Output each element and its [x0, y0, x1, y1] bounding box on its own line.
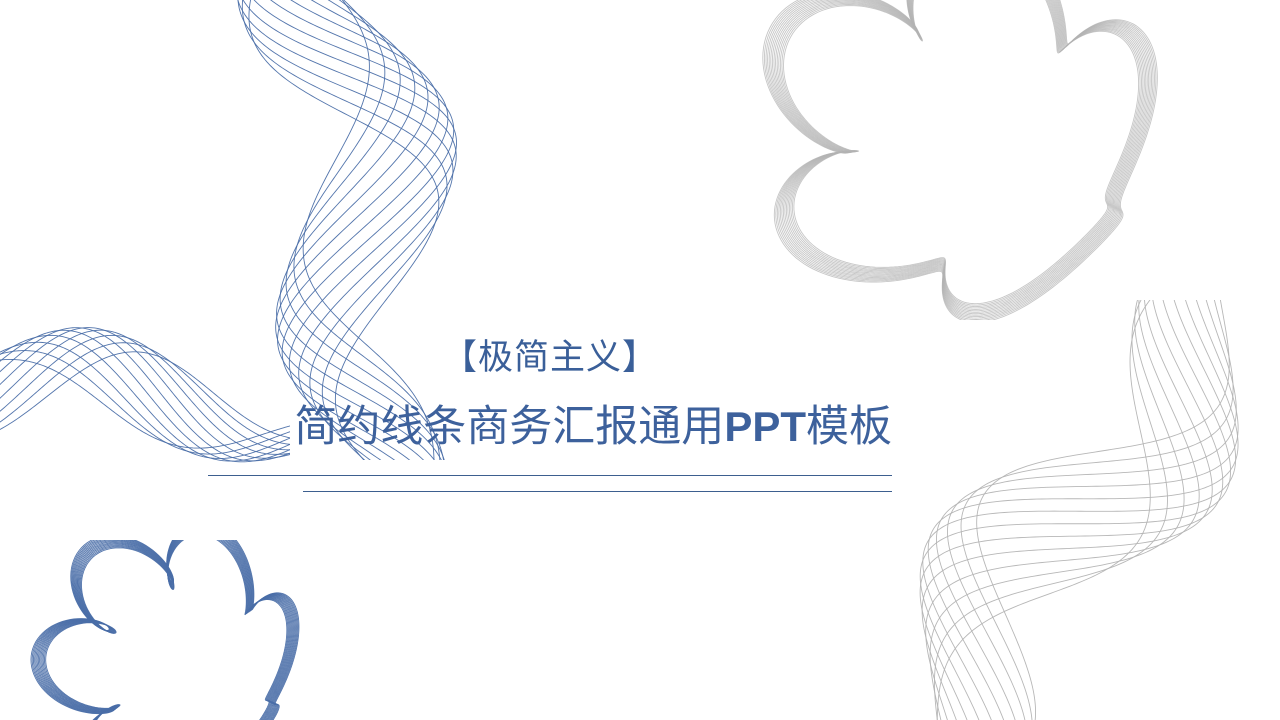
decoration-svg [830, 300, 1280, 720]
decoration-stroke [936, 300, 1238, 720]
decoration-stroke [780, 0, 1141, 307]
title-cjk-part-b: 模 [806, 404, 849, 451]
decoration-stroke [36, 540, 295, 720]
decoration-svg [755, 0, 1175, 320]
decoration-stroke [779, 0, 1143, 308]
decoration-stroke [931, 300, 1218, 720]
slide-canvas: 【极简主义】 简约线条商务汇报通用PPT模板 [0, 0, 1280, 720]
decoration-stroke [784, 0, 1139, 304]
decoration-stroke [782, 0, 1140, 305]
page-title: 简约线条商务汇报通用PPT模板 [208, 394, 892, 461]
decoration-stroke [33, 540, 297, 720]
decoration-stroke [32, 540, 298, 720]
decoration-stroke [768, 0, 1153, 318]
decoration-stroke [763, 0, 1158, 320]
decoration-stroke [934, 300, 1212, 720]
decoration-stroke [777, 0, 1144, 309]
decoration-stroke [44, 540, 287, 720]
decoration-svg [30, 540, 330, 720]
decoration-stroke [38, 540, 293, 720]
decoration-stroke [769, 0, 1151, 317]
divider-rule-top [208, 475, 892, 476]
decoration-stroke [43, 540, 289, 720]
decoration-stroke [46, 540, 287, 720]
decoration-stroke [926, 300, 1199, 720]
decoration-stroke [774, 0, 1147, 312]
decoration-stroke [41, 540, 291, 720]
decoration-stroke [920, 300, 1223, 720]
bottom-left-rosette-decoration [30, 540, 330, 720]
decoration-stroke [766, 0, 1154, 319]
divider-rule-bottom [303, 491, 892, 492]
title-latin-part: PPT [724, 403, 806, 450]
decoration-stroke [930, 300, 1205, 720]
decoration-stroke [947, 300, 1236, 720]
bottom-right-wave-ribbon-decoration [830, 300, 1280, 720]
decoration-stroke [920, 300, 1230, 720]
decoration-stroke [776, 0, 1146, 311]
decoration-stroke [941, 300, 1233, 720]
decoration-stroke [772, 0, 1148, 314]
title-cjk-part-a: 简约线条商务汇报通用 [294, 404, 724, 451]
decoration-stroke [923, 300, 1236, 720]
top-right-rosette-decoration [755, 0, 1175, 320]
decoration-stroke [928, 300, 1238, 720]
decoration-stroke [35, 540, 296, 720]
decoration-stroke [40, 540, 292, 720]
slide-subtitle: 【极简主义】 [208, 336, 892, 380]
decoration-stroke [771, 0, 1150, 315]
title-block: 【极简主义】 简约线条商务汇报通用PPT模板 [208, 336, 892, 461]
title-cjk-part-c: 板 [849, 404, 892, 451]
decoration-stroke [922, 300, 1212, 720]
decoration-stroke [764, 0, 1156, 320]
decoration-stroke [933, 300, 1229, 720]
decoration-stroke [31, 540, 299, 720]
decoration-stroke [42, 540, 290, 720]
decoration-stroke [37, 540, 294, 720]
